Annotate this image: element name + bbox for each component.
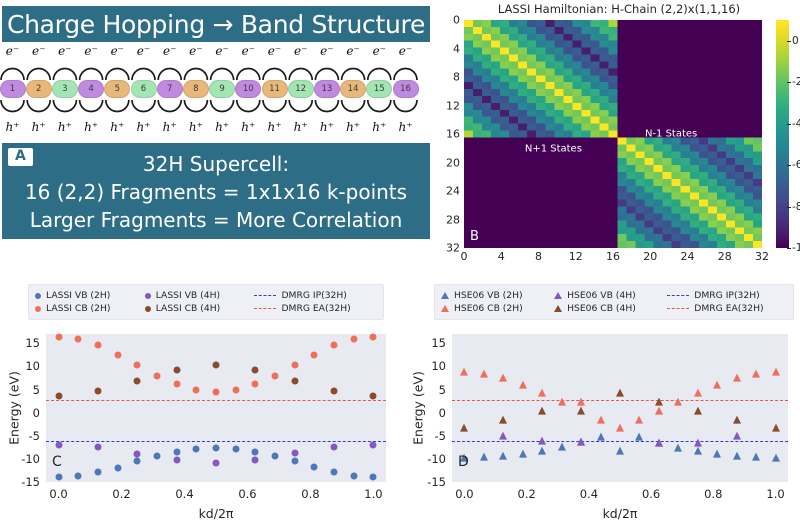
atom-site: 3 xyxy=(52,80,78,98)
panel-a: Charge Hopping → Band Structure e⁻e⁻e⁻e⁻… xyxy=(0,0,434,272)
x-tick-label: 0.6 xyxy=(238,487,256,501)
hopping-arc-svg xyxy=(0,60,434,82)
hole-label: h⁺ xyxy=(320,120,334,134)
heatmap-annotation-n-plus-1: N+1 States xyxy=(525,143,582,154)
data-point xyxy=(370,473,377,480)
legend-entry: LASSI CB (2H) xyxy=(35,303,135,314)
data-point xyxy=(713,449,721,457)
electron-label: e⁻ xyxy=(137,44,150,58)
reference-line xyxy=(452,441,788,442)
hole-label: h⁺ xyxy=(398,120,412,134)
data-point xyxy=(350,472,357,479)
legend-entry: DMRG IP(32H) xyxy=(667,290,785,301)
data-point xyxy=(655,398,663,406)
electron-label: e⁻ xyxy=(373,44,386,58)
hole-label: h⁺ xyxy=(294,120,308,134)
data-point xyxy=(291,362,298,369)
colorbar-tick: -4 xyxy=(792,118,800,130)
electron-label: e⁻ xyxy=(320,44,333,58)
data-point xyxy=(252,449,259,456)
data-point xyxy=(655,406,663,414)
correlation-line: Larger Fragments = More Correlation xyxy=(30,206,403,234)
hole-hopping-arcs xyxy=(0,98,434,120)
legend-label: LASSI CB (4H) xyxy=(156,303,220,314)
data-point xyxy=(577,407,585,415)
atom-site: 15 xyxy=(366,80,392,98)
data-point xyxy=(173,366,180,373)
legend-triangle-icon xyxy=(554,292,562,299)
atom-site: 14 xyxy=(340,80,366,98)
data-point xyxy=(331,342,338,349)
legend-dot-icon xyxy=(145,306,151,312)
legend-label: DMRG EA(32H) xyxy=(694,303,763,314)
legend-dash-icon xyxy=(254,308,276,309)
data-point xyxy=(134,458,141,465)
electron-label: e⁻ xyxy=(399,44,412,58)
data-point xyxy=(616,388,624,396)
data-point xyxy=(752,370,760,378)
hole-label: h⁺ xyxy=(84,120,98,134)
panel-b: LASSI Hamiltonian: H-Chain (2,2)x(1,1,16… xyxy=(440,0,800,275)
data-point xyxy=(674,443,682,451)
panel-c-x-axis-label: kd/2π xyxy=(199,506,234,521)
panel-b-x-tick: 24 xyxy=(681,250,695,263)
data-point xyxy=(350,336,357,343)
legend-label: HSE06 CB (4H) xyxy=(567,303,636,314)
hole-label: h⁺ xyxy=(346,120,360,134)
electron-label: e⁻ xyxy=(294,44,307,58)
x-tick-label: 0.8 xyxy=(301,487,319,501)
data-point xyxy=(272,453,279,460)
data-point xyxy=(94,387,101,394)
panel-d-y-axis-label: Energy (eV) xyxy=(411,371,426,445)
hole-label: h⁺ xyxy=(241,120,255,134)
colorbar xyxy=(776,20,789,248)
y-tick-label: -15 xyxy=(410,475,446,489)
electron-label: e⁻ xyxy=(189,44,202,58)
legend-label: DMRG IP(32H) xyxy=(694,290,759,301)
atom-site: 2 xyxy=(26,80,52,98)
legend-label: HSE06 VB (2H) xyxy=(454,290,523,301)
data-point xyxy=(134,451,141,458)
hole-label: h⁺ xyxy=(32,120,46,134)
atom-site-row: 12345678910111213141516 xyxy=(0,80,434,100)
panel-b-x-tick: 0 xyxy=(461,250,468,263)
panel-b-x-tick: 16 xyxy=(606,250,620,263)
data-point xyxy=(499,451,507,459)
legend-label: LASSI VB (4H) xyxy=(156,290,220,301)
panel-b-y-tick: 12 xyxy=(446,99,460,112)
data-point xyxy=(616,423,624,431)
panel-b-y-tick: 16 xyxy=(446,128,460,141)
atom-site: 16 xyxy=(393,80,419,98)
data-point xyxy=(733,374,741,382)
x-tick-label: 0.6 xyxy=(642,487,660,501)
electron-hopping-arcs xyxy=(0,60,434,82)
data-point xyxy=(577,438,585,446)
electron-label: e⁻ xyxy=(346,44,359,58)
data-point xyxy=(213,445,220,452)
data-point xyxy=(694,438,702,446)
panel-b-y-tick: 32 xyxy=(446,242,460,255)
data-point xyxy=(499,416,507,424)
figure-canvas: Charge Hopping → Band Structure e⁻e⁻e⁻e⁻… xyxy=(0,0,800,530)
atom-site: 7 xyxy=(157,80,183,98)
data-point xyxy=(331,387,338,394)
data-point xyxy=(94,342,101,349)
legend-label: HSE06 VB (4H) xyxy=(567,290,636,301)
hole-label: h⁺ xyxy=(58,120,72,134)
data-point xyxy=(635,433,643,441)
data-point xyxy=(752,453,760,461)
atom-site: 5 xyxy=(104,80,130,98)
legend-entry: DMRG EA(32H) xyxy=(667,303,785,314)
colorbar-tick: -8 xyxy=(792,201,800,213)
data-point xyxy=(694,388,702,396)
panel-c-legend: LASSI VB (2H)LASSI VB (4H)DMRG IP(32H)LA… xyxy=(28,284,384,320)
data-point xyxy=(311,351,318,358)
data-point xyxy=(635,416,643,424)
data-point xyxy=(232,386,239,393)
data-point xyxy=(311,464,318,471)
panel-b-x-tick: 20 xyxy=(643,250,657,263)
data-point xyxy=(519,449,527,457)
legend-label: LASSI CB (2H) xyxy=(46,303,110,314)
data-point xyxy=(55,392,62,399)
electron-label: e⁻ xyxy=(242,44,255,58)
colorbar-canvas xyxy=(776,20,789,248)
y-tick-label: 15 xyxy=(410,336,446,350)
legend-dot-icon xyxy=(145,293,151,299)
y-tick-label: 15 xyxy=(4,336,40,350)
panel-a-title: Charge Hopping → Band Structure xyxy=(2,6,430,42)
legend-label: HSE06 CB (2H) xyxy=(454,303,523,314)
data-point xyxy=(291,458,298,465)
data-point xyxy=(114,351,121,358)
heatmap-annotation-n-minus-1: N-1 States xyxy=(645,129,697,140)
legend-entry: DMRG IP(32H) xyxy=(254,290,375,301)
data-point xyxy=(213,362,220,369)
colorbar-tick: -2 xyxy=(792,76,800,88)
data-point xyxy=(772,424,780,432)
data-point xyxy=(252,381,259,388)
data-point xyxy=(134,377,141,384)
data-point xyxy=(213,460,220,467)
data-point xyxy=(733,432,741,440)
data-point xyxy=(655,439,663,447)
legend-entry: LASSI VB (4H) xyxy=(145,290,245,301)
legend-entry: LASSI VB (2H) xyxy=(35,290,135,301)
data-point xyxy=(291,377,298,384)
data-point xyxy=(370,392,377,399)
panel-b-y-tick: 28 xyxy=(446,213,460,226)
legend-triangle-icon xyxy=(441,305,449,312)
data-point xyxy=(55,333,62,340)
data-point xyxy=(480,453,488,461)
data-point xyxy=(114,464,121,471)
data-point xyxy=(331,444,338,451)
panel-b-badge: B xyxy=(470,229,479,244)
legend-entry: HSE06 VB (4H) xyxy=(554,290,657,301)
hole-label: h⁺ xyxy=(267,120,281,134)
panel-b-y-tick: 4 xyxy=(453,42,460,55)
data-point xyxy=(193,386,200,393)
data-point xyxy=(694,407,702,415)
data-point xyxy=(538,437,546,445)
hole-label: h⁺ xyxy=(215,120,229,134)
legend-dash-icon xyxy=(254,295,276,296)
y-tick-label: -10 xyxy=(410,452,446,466)
y-tick-label: -15 xyxy=(4,475,40,489)
hole-label: h⁺ xyxy=(5,120,19,134)
hole-label: h⁺ xyxy=(372,120,386,134)
panel-c: LASSI VB (2H)LASSI VB (4H)DMRG IP(32H)LA… xyxy=(0,278,400,530)
data-point xyxy=(597,416,605,424)
data-point xyxy=(134,362,141,369)
data-point xyxy=(772,368,780,376)
fragments-line: 16 (2,2) Fragments = 1x1x16 k-points xyxy=(25,178,407,206)
legend-entry: HSE06 CB (2H) xyxy=(441,303,544,314)
x-tick-label: 0.8 xyxy=(704,487,722,501)
data-point xyxy=(558,443,566,451)
panel-d-x-axis-label: kd/2π xyxy=(603,506,638,521)
y-tick-label: -10 xyxy=(4,452,40,466)
panel-d-legend: HSE06 VB (2H)HSE06 VB (4H)DMRG IP(32H)HS… xyxy=(434,284,794,320)
hamiltonian-heatmap-wrapper: N+1 States N-1 States xyxy=(464,20,762,248)
data-point xyxy=(538,407,546,415)
data-point xyxy=(272,372,279,379)
electron-label: e⁻ xyxy=(6,44,19,58)
data-point xyxy=(173,381,180,388)
data-point xyxy=(538,388,546,396)
panel-c-plot-area xyxy=(46,334,386,482)
legend-label: LASSI VB (2H) xyxy=(46,290,110,301)
panel-b-x-tick: 8 xyxy=(535,250,542,263)
legend-label: DMRG EA(32H) xyxy=(281,303,350,314)
heatmap-canvas xyxy=(464,20,762,248)
legend-dot-icon xyxy=(35,306,41,312)
reference-line xyxy=(452,400,788,401)
atom-site: 9 xyxy=(209,80,235,98)
panel-c-badge: C xyxy=(52,454,62,470)
panel-d: HSE06 VB (2H)HSE06 VB (4H)DMRG IP(32H)HS… xyxy=(400,278,800,530)
atom-site: 13 xyxy=(314,80,340,98)
data-point xyxy=(597,433,605,441)
data-point xyxy=(55,473,62,480)
panel-b-y-tick: 8 xyxy=(453,71,460,84)
x-tick-label: 1.0 xyxy=(364,487,382,501)
legend-triangle-icon xyxy=(554,305,562,312)
x-tick-label: 0.4 xyxy=(175,487,193,501)
data-point xyxy=(772,454,780,462)
legend-entry: HSE06 CB (4H) xyxy=(554,303,657,314)
data-point xyxy=(331,468,338,475)
panel-b-x-tick: 32 xyxy=(755,250,769,263)
electron-label: e⁻ xyxy=(268,44,281,58)
legend-entry: HSE06 VB (2H) xyxy=(441,290,544,301)
data-point xyxy=(538,447,546,455)
panel-c-y-axis-label: Energy (eV) xyxy=(7,371,22,445)
legend-dash-icon xyxy=(667,308,689,309)
x-tick-label: 0.0 xyxy=(49,487,67,501)
hole-label-row: h⁺h⁺h⁺h⁺h⁺h⁺h⁺h⁺h⁺h⁺h⁺h⁺h⁺h⁺h⁺h⁺ xyxy=(0,120,434,140)
data-point xyxy=(94,444,101,451)
hole-label: h⁺ xyxy=(110,120,124,134)
panel-b-y-tick: 24 xyxy=(446,185,460,198)
data-point xyxy=(713,381,721,389)
data-point xyxy=(674,398,682,406)
panel-a-badge: A xyxy=(8,148,33,166)
data-point xyxy=(153,453,160,460)
panel-b-y-tick: 20 xyxy=(446,156,460,169)
electron-label: e⁻ xyxy=(84,44,97,58)
panel-d-plot-area xyxy=(452,334,788,482)
atom-site: 10 xyxy=(235,80,261,98)
x-tick-label: 0.2 xyxy=(518,487,536,501)
hole-label: h⁺ xyxy=(189,120,203,134)
electron-label: e⁻ xyxy=(111,44,124,58)
atom-site: 6 xyxy=(131,80,157,98)
electron-label: e⁻ xyxy=(163,44,176,58)
data-point xyxy=(733,416,741,424)
atom-site: 4 xyxy=(78,80,104,98)
data-point xyxy=(499,431,507,439)
electron-label: e⁻ xyxy=(32,44,45,58)
legend-entry: DMRG EA(32H) xyxy=(254,303,375,314)
panel-b-x-tick: 12 xyxy=(569,250,583,263)
data-point xyxy=(370,333,377,340)
data-point xyxy=(153,372,160,379)
legend-dot-icon xyxy=(35,293,41,299)
x-tick-label: 1.0 xyxy=(766,487,784,501)
data-point xyxy=(55,442,62,449)
data-point xyxy=(519,381,527,389)
hamiltonian-heatmap xyxy=(464,20,762,248)
data-point xyxy=(370,442,377,449)
electron-label: e⁻ xyxy=(215,44,228,58)
reference-line xyxy=(46,400,386,401)
hydrogen-chain-diagram: e⁻e⁻e⁻e⁻e⁻e⁻e⁻e⁻e⁻e⁻e⁻e⁻e⁻e⁻e⁻e⁻ 1234567… xyxy=(0,42,434,142)
data-point xyxy=(291,450,298,457)
data-point xyxy=(75,336,82,343)
data-point xyxy=(460,424,468,432)
atom-site: 1 xyxy=(0,80,26,98)
atom-site: 12 xyxy=(288,80,314,98)
data-point xyxy=(232,445,239,452)
data-point xyxy=(558,398,566,406)
data-point xyxy=(252,456,259,463)
reference-line xyxy=(46,441,386,442)
data-point xyxy=(616,446,624,454)
x-tick-label: 0.2 xyxy=(112,487,130,501)
data-point xyxy=(499,374,507,382)
x-tick-label: 0.0 xyxy=(455,487,473,501)
panel-a-description: 32H Supercell: 16 (2,2) Fragments = 1x1x… xyxy=(2,143,430,239)
colorbar-tick: 0 xyxy=(792,35,799,47)
data-point xyxy=(480,370,488,378)
data-point xyxy=(460,368,468,376)
panel-d-badge: D xyxy=(458,454,469,470)
data-point xyxy=(193,445,200,452)
data-point xyxy=(252,366,259,373)
legend-triangle-icon xyxy=(441,292,449,299)
data-point xyxy=(577,398,585,406)
data-point xyxy=(173,456,180,463)
x-tick-label: 0.4 xyxy=(580,487,598,501)
data-point xyxy=(213,388,220,395)
hole-label: h⁺ xyxy=(163,120,177,134)
data-point xyxy=(94,468,101,475)
atom-site: 8 xyxy=(183,80,209,98)
supercell-line: 32H Supercell: xyxy=(143,150,289,178)
hopping-arc-svg xyxy=(0,98,434,120)
panel-b-x-tick: 4 xyxy=(498,250,505,263)
data-point xyxy=(694,447,702,455)
colorbar-tick: -6 xyxy=(792,159,800,171)
data-point xyxy=(173,449,180,456)
colorbar-tick: -10 xyxy=(792,242,800,254)
panel-b-title: LASSI Hamiltonian: H-Chain (2,2)x(1,1,16… xyxy=(454,2,784,16)
panel-b-x-tick: 28 xyxy=(718,250,732,263)
legend-entry: LASSI CB (4H) xyxy=(145,303,245,314)
legend-dash-icon xyxy=(667,295,689,296)
hole-label: h⁺ xyxy=(136,120,150,134)
atom-site: 11 xyxy=(262,80,288,98)
data-point xyxy=(733,452,741,460)
electron-label: e⁻ xyxy=(58,44,71,58)
legend-label: DMRG IP(32H) xyxy=(281,290,346,301)
data-point xyxy=(75,472,82,479)
panel-b-y-tick: 0 xyxy=(453,14,460,27)
